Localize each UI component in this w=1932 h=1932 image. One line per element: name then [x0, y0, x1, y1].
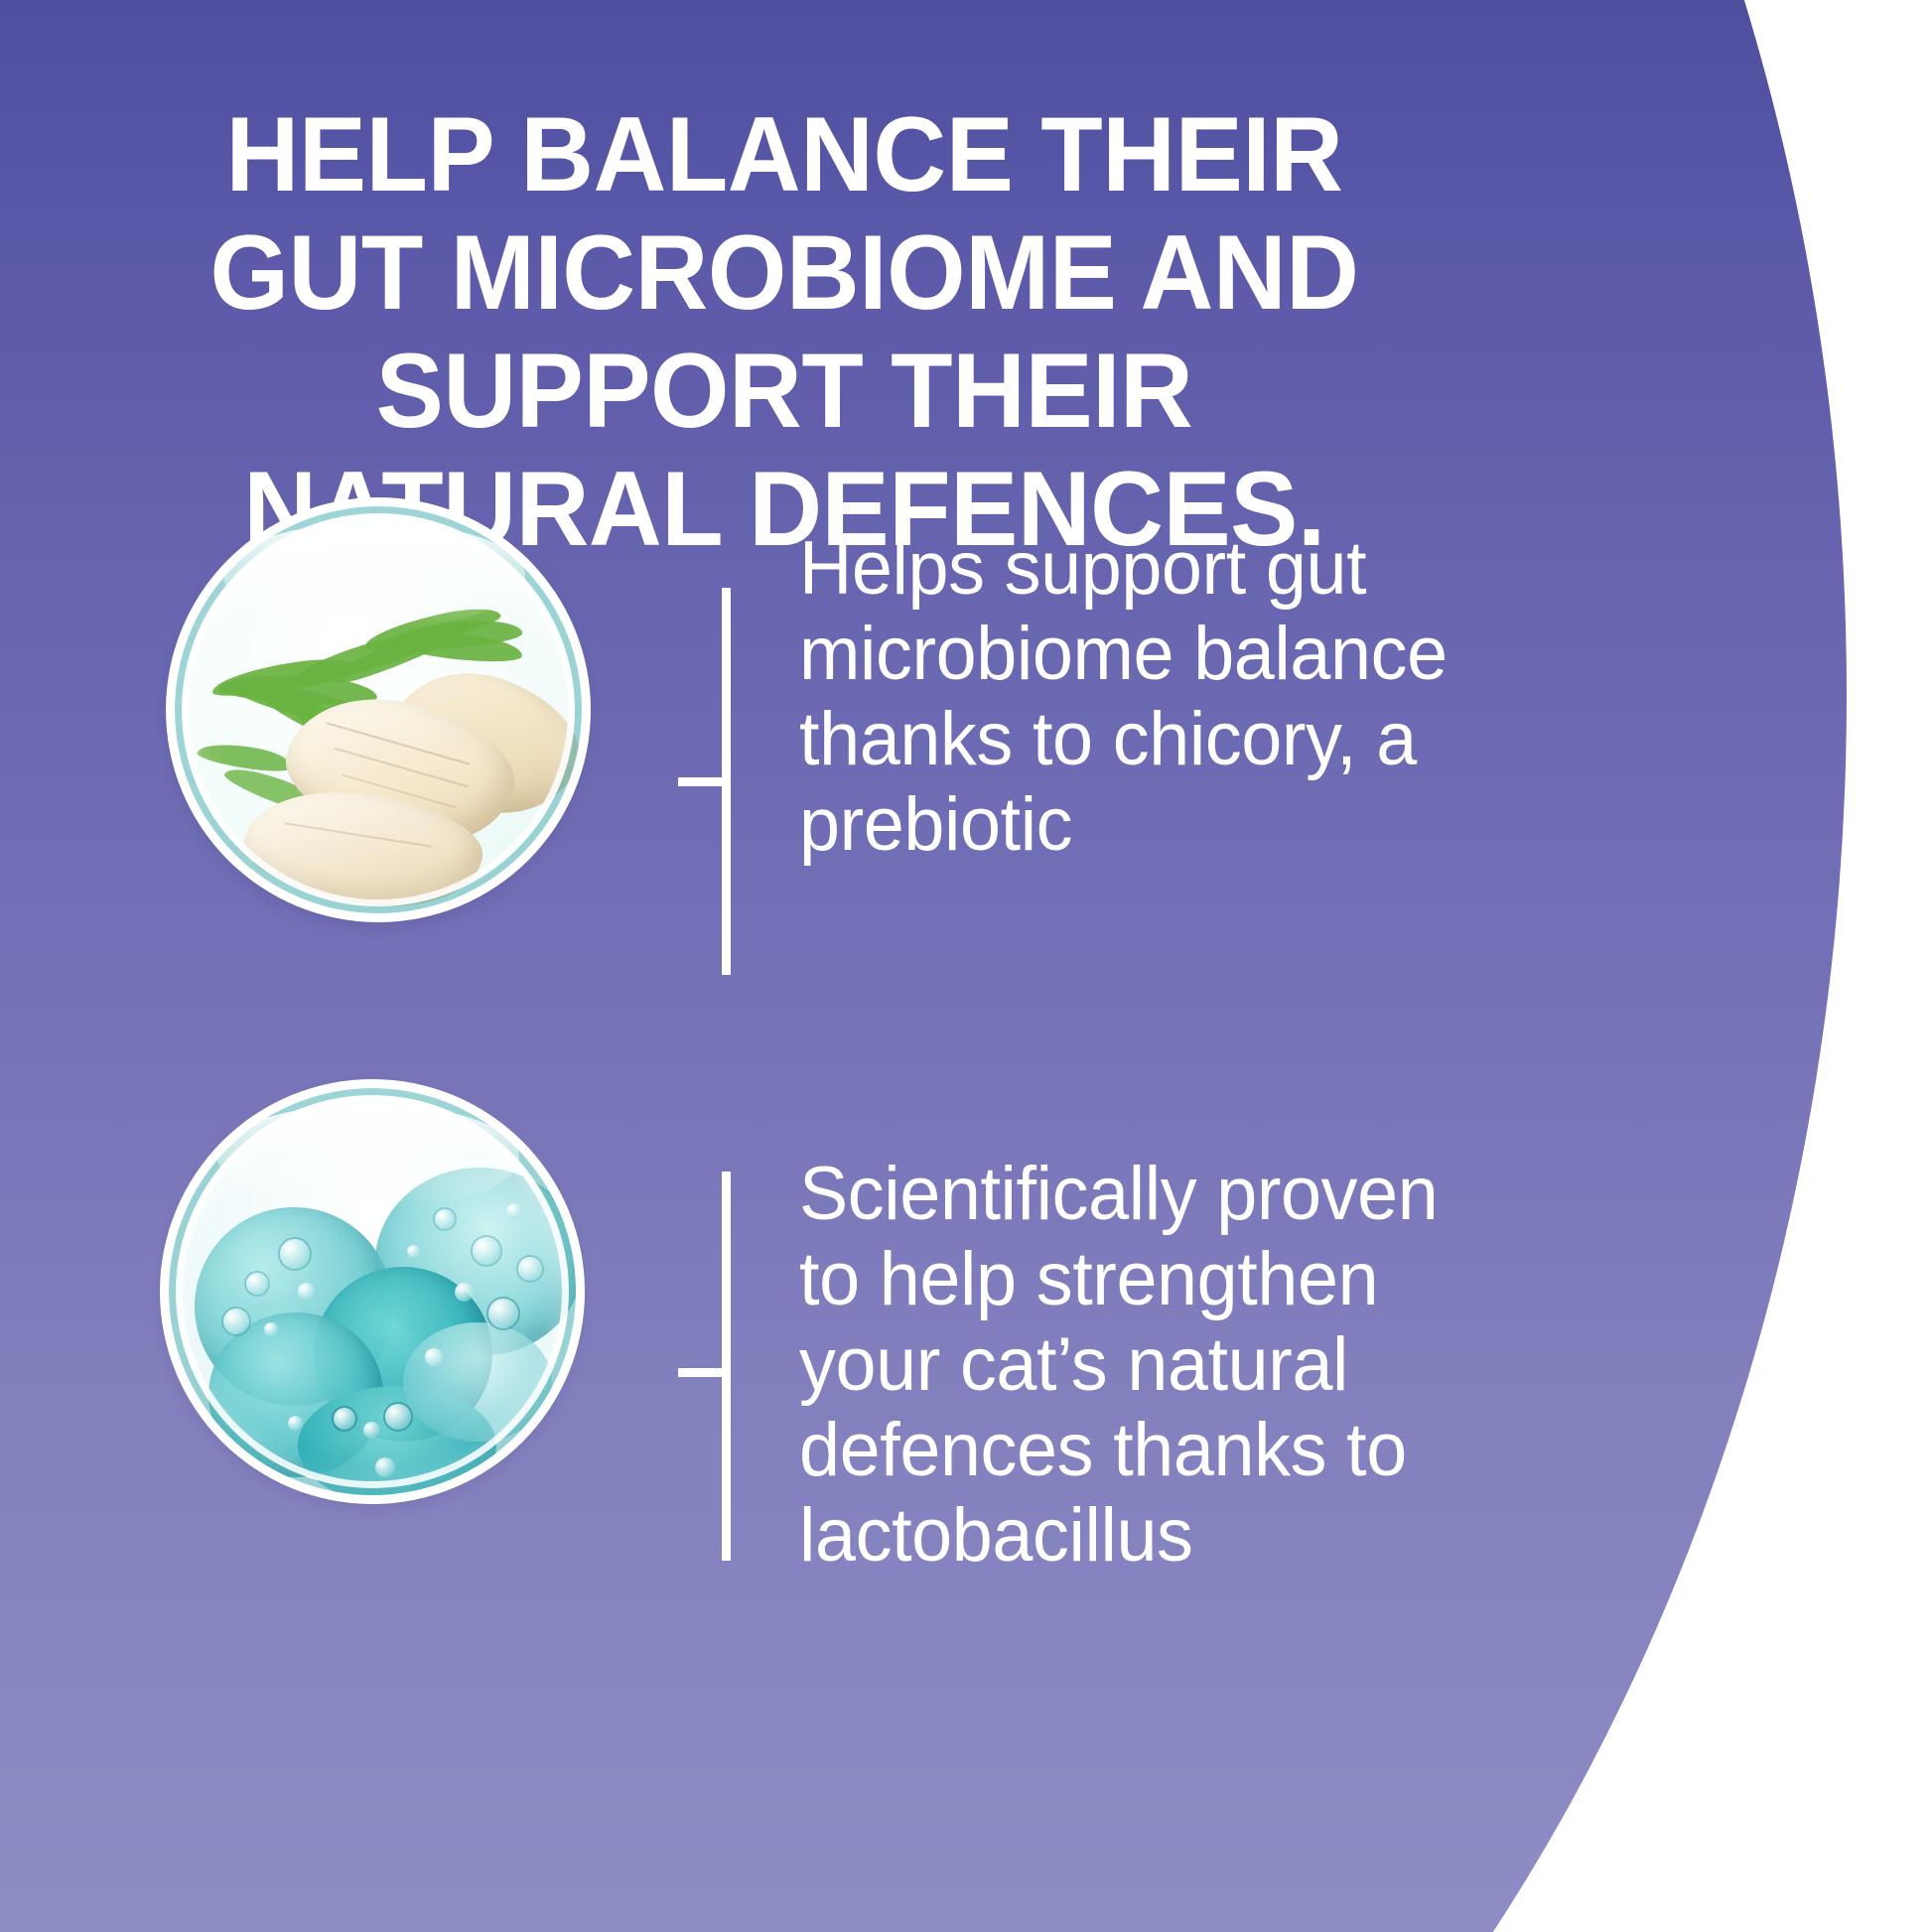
petri-dish-chicory-icon — [175, 506, 582, 913]
feature-text-lactobacillus: Scientifically proven to help strengthen… — [799, 1152, 1492, 1579]
feature-text-prebiotic: Helps support gut microbiome balance tha… — [799, 526, 1473, 868]
infographic-canvas: HELP BALANCE THEIR GUT MICROBIOME AND SU… — [0, 0, 1932, 1932]
petri-dish-gel-icon — [169, 1088, 576, 1495]
page-title: HELP BALANCE THEIR GUT MICROBIOME AND SU… — [140, 95, 1430, 568]
